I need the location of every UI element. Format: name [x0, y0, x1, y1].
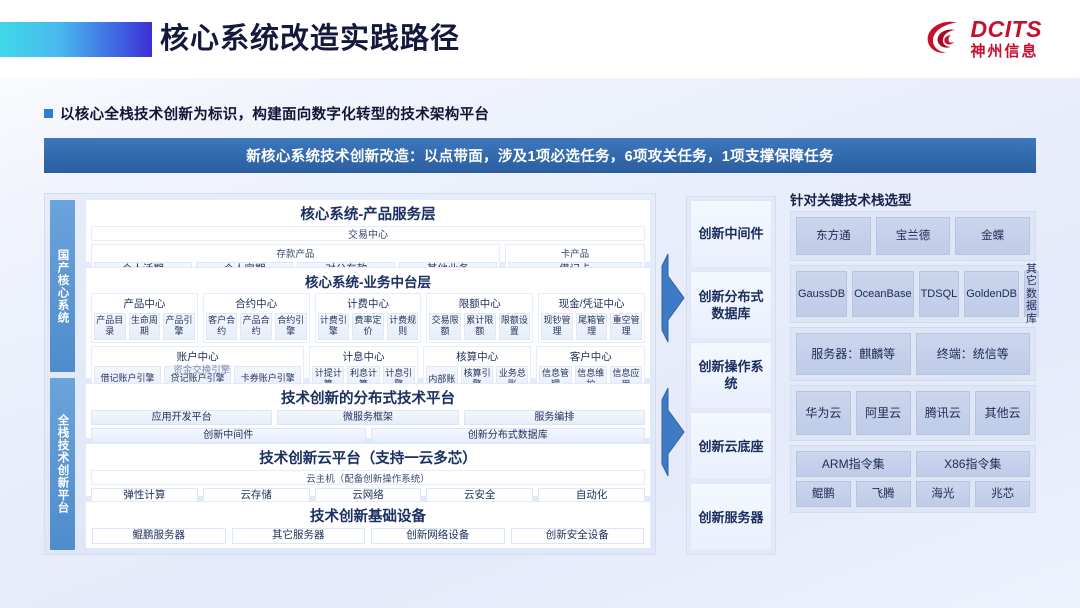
database-cell[interactable]: 其它数据库 — [1024, 271, 1039, 317]
layer-business-middle: 核心系统-业务中台层 产品中心 产品目录 生命周期 产品引擎 合约中心 客户合约… — [85, 267, 651, 379]
center-name: 合约中心 — [206, 295, 307, 313]
architecture-panel: 国产核心系统 全栈技术创新平台 核心系统-产品服务层 交易中心 存款产品 个人活… — [44, 193, 656, 555]
product-group-deposit-label: 存款产品 — [94, 246, 497, 262]
instruction-set-cell[interactable]: X86指令集 — [916, 451, 1031, 477]
business-center-row-1: 产品中心 产品目录 生命周期 产品引擎 合约中心 客户合约 产品合约 合约引擎 … — [86, 293, 650, 346]
dcits-logo: DCITS 神州信息 — [924, 17, 1043, 59]
innovation-task-column: 创新中间件 创新分布式 数据库 创新操作系统 创新云底座 创新服务器 — [686, 196, 776, 555]
tech-stack-title: 针对关键技术栈选型 — [790, 189, 912, 209]
cloud-cell[interactable]: 华为云 — [796, 391, 851, 435]
layer-product-service-title: 核心系统-产品服务层 — [86, 200, 650, 226]
layer-product-service: 核心系统-产品服务层 交易中心 存款产品 个人活期 个人定期 对公存款 其他业务… — [85, 199, 651, 263]
dcits-logo-mark — [924, 17, 964, 59]
tech-stack-servers-row: ARM指令集 X86指令集 鲲鹏 飞腾 海光 兆芯 — [790, 445, 1036, 513]
infrastructure-chip[interactable]: 鲲鹏服务器 — [92, 528, 226, 544]
layer-cloud-platform: 技术创新云平台（支持一云多芯） 云主机（配备创新操作系统） 弹性计算 云存储 云… — [85, 443, 651, 497]
cloud-host-bar: 云主机（配备创新操作系统） — [91, 470, 645, 485]
chip-vendor-cell[interactable]: 飞腾 — [856, 481, 911, 507]
center-contract: 合约中心 客户合约 产品合约 合约引擎 — [203, 293, 310, 343]
distributed-chip[interactable]: 创新中间件 — [91, 428, 366, 443]
center-cell[interactable]: 生命周期 — [129, 313, 161, 340]
center-name: 核算中心 — [426, 348, 529, 366]
rail-label-core-system: 国产核心系统 — [50, 200, 75, 372]
center-limit: 限额中心 交易限额 累计限额 限额设置 — [426, 293, 533, 343]
database-cell[interactable]: OceanBase — [852, 271, 913, 317]
layer-distributed-platform: 技术创新的分布式技术平台 应用开发平台 微服务框架 服务编排 创新中间件 创新分… — [85, 383, 651, 439]
distributed-chip[interactable]: 创新分布式数据库 — [371, 428, 646, 443]
vendor-cell[interactable]: 金蝶 — [955, 217, 1030, 255]
innovation-item-middleware[interactable]: 创新中间件 — [690, 200, 772, 268]
center-name: 客户中心 — [539, 348, 642, 366]
cloud-cell[interactable]: 其他云 — [975, 391, 1030, 435]
tech-stack-column: 东方通 宝兰德 金蝶 GaussDB OceanBase TDSQL Golde… — [790, 211, 1036, 555]
layer-infrastructure: 技术创新基础设备 鲲鹏服务器 其它服务器 创新网络设备 创新安全设备 — [85, 501, 651, 549]
instruction-set-row: ARM指令集 X86指令集 — [796, 451, 1030, 477]
infrastructure-chip[interactable]: 创新安全设备 — [511, 528, 645, 544]
infrastructure-items-row: 鲲鹏服务器 其它服务器 创新网络设备 创新安全设备 — [86, 528, 650, 548]
center-product: 产品中心 产品目录 生命周期 产品引擎 — [91, 293, 198, 343]
highlight-banner: 新核心系统技术创新改造：以点带面，涉及1项必选任务，6项攻关任务，1项支撑保障任… — [44, 138, 1036, 173]
center-name: 产品中心 — [94, 295, 195, 313]
header-accent-bar — [0, 22, 152, 57]
rail-label-fullstack-platform: 全栈技术创新平台 — [50, 378, 75, 550]
cloud-cell[interactable]: 腾讯云 — [916, 391, 971, 435]
chip-vendor-cell[interactable]: 兆芯 — [975, 481, 1030, 507]
subtitle-text: 以核心全栈技术创新为标识，构建面向数字化转型的技术架构平台 — [60, 103, 489, 124]
bullet-square-icon — [44, 109, 53, 118]
center-cell[interactable]: 尾箱管理 — [576, 313, 608, 340]
center-cell[interactable]: 合约引擎 — [275, 313, 307, 340]
innovation-item-os[interactable]: 创新操作系统 — [690, 342, 772, 410]
section-subtitle: 以核心全栈技术创新为标识，构建面向数字化转型的技术架构平台 — [44, 103, 489, 124]
distributed-row-1: 应用开发平台 微服务框架 服务编排 — [86, 410, 650, 428]
os-cell[interactable]: 服务器：麒麟等 — [796, 333, 911, 375]
distributed-chip[interactable]: 服务编排 — [464, 410, 645, 425]
flow-arrow-icon — [660, 252, 686, 344]
center-cell[interactable]: 现钞管理 — [541, 313, 573, 340]
center-cell[interactable]: 重空管理 — [610, 313, 642, 340]
flow-arrow-icon — [660, 386, 686, 478]
os-cell[interactable]: 终端：统信等 — [916, 333, 1031, 375]
center-cell[interactable]: 计费引擎 — [318, 313, 350, 340]
innovation-item-cloud-base[interactable]: 创新云底座 — [690, 412, 772, 480]
chip-vendor-row: 鲲鹏 飞腾 海光 兆芯 — [796, 481, 1030, 507]
distributed-chip[interactable]: 微服务框架 — [277, 410, 458, 425]
instruction-set-cell[interactable]: ARM指令集 — [796, 451, 911, 477]
center-cell[interactable]: 产品引擎 — [163, 313, 195, 340]
vendor-cell[interactable]: 东方通 — [796, 217, 871, 255]
tech-stack-vendors-row: 东方通 宝兰德 金蝶 — [790, 211, 1036, 261]
center-cell[interactable]: 产品目录 — [94, 313, 126, 340]
trade-center-bar: 交易中心 — [91, 226, 645, 241]
infrastructure-chip[interactable]: 其它服务器 — [232, 528, 366, 544]
layer-business-middle-title: 核心系统-业务中台层 — [86, 268, 650, 293]
center-name: 计息中心 — [312, 348, 415, 366]
center-cell[interactable]: 费率定价 — [352, 313, 384, 340]
innovation-item-distributed-db[interactable]: 创新分布式 数据库 — [690, 271, 772, 339]
center-cell[interactable]: 限额设置 — [499, 313, 531, 340]
layer-cloud-title: 技术创新云平台（支持一云多芯） — [86, 444, 650, 470]
page-title: 核心系统改造实践路径 — [160, 20, 460, 58]
center-cash-voucher: 现金/凭证中心 现钞管理 尾箱管理 重空管理 — [538, 293, 645, 343]
tech-stack-os-row: 服务器：麒麟等 终端：统信等 — [790, 327, 1036, 381]
distributed-chip[interactable]: 应用开发平台 — [91, 410, 272, 425]
layer-infrastructure-title: 技术创新基础设备 — [86, 502, 650, 528]
center-name: 账户中心 — [94, 348, 301, 366]
layer-distributed-title: 技术创新的分布式技术平台 — [86, 384, 650, 410]
center-name: 现金/凭证中心 — [541, 295, 642, 313]
page-header: 核心系统改造实践路径 DCITS 神州信息 — [0, 0, 1080, 78]
center-cell[interactable]: 计费规则 — [387, 313, 419, 340]
chip-vendor-cell[interactable]: 海光 — [916, 481, 971, 507]
chip-vendor-cell[interactable]: 鲲鹏 — [796, 481, 851, 507]
banner-text: 新核心系统技术创新改造：以点带面，涉及1项必选任务，6项攻关任务，1项支撑保障任… — [246, 145, 834, 166]
center-cell[interactable]: 累计限额 — [464, 313, 496, 340]
logo-cn-text: 神州信息 — [971, 44, 1043, 59]
database-cell[interactable]: TDSQL — [919, 271, 960, 317]
tech-stack-databases-row: GaussDB OceanBase TDSQL GoldenDB 其它数据库 — [790, 265, 1036, 323]
center-cell[interactable]: 交易限额 — [429, 313, 461, 340]
database-cell[interactable]: GaussDB — [796, 271, 847, 317]
tech-stack-clouds-row: 华为云 阿里云 腾讯云 其他云 — [790, 385, 1036, 441]
center-cell[interactable]: 客户合约 — [206, 313, 238, 340]
center-name: 限额中心 — [429, 295, 530, 313]
logo-en-text: DCITS — [971, 18, 1043, 41]
center-billing: 计费中心 计费引擎 费率定价 计费规则 — [315, 293, 422, 343]
center-cell[interactable]: 产品合约 — [240, 313, 272, 340]
product-group-card-label: 卡产品 — [508, 246, 642, 262]
infrastructure-chip[interactable]: 创新网络设备 — [371, 528, 505, 544]
vendor-cell[interactable]: 宝兰德 — [876, 217, 951, 255]
database-cell[interactable]: GoldenDB — [964, 271, 1019, 317]
center-name: 计费中心 — [318, 295, 419, 313]
cloud-cell[interactable]: 阿里云 — [856, 391, 911, 435]
innovation-item-server[interactable]: 创新服务器 — [690, 483, 772, 551]
